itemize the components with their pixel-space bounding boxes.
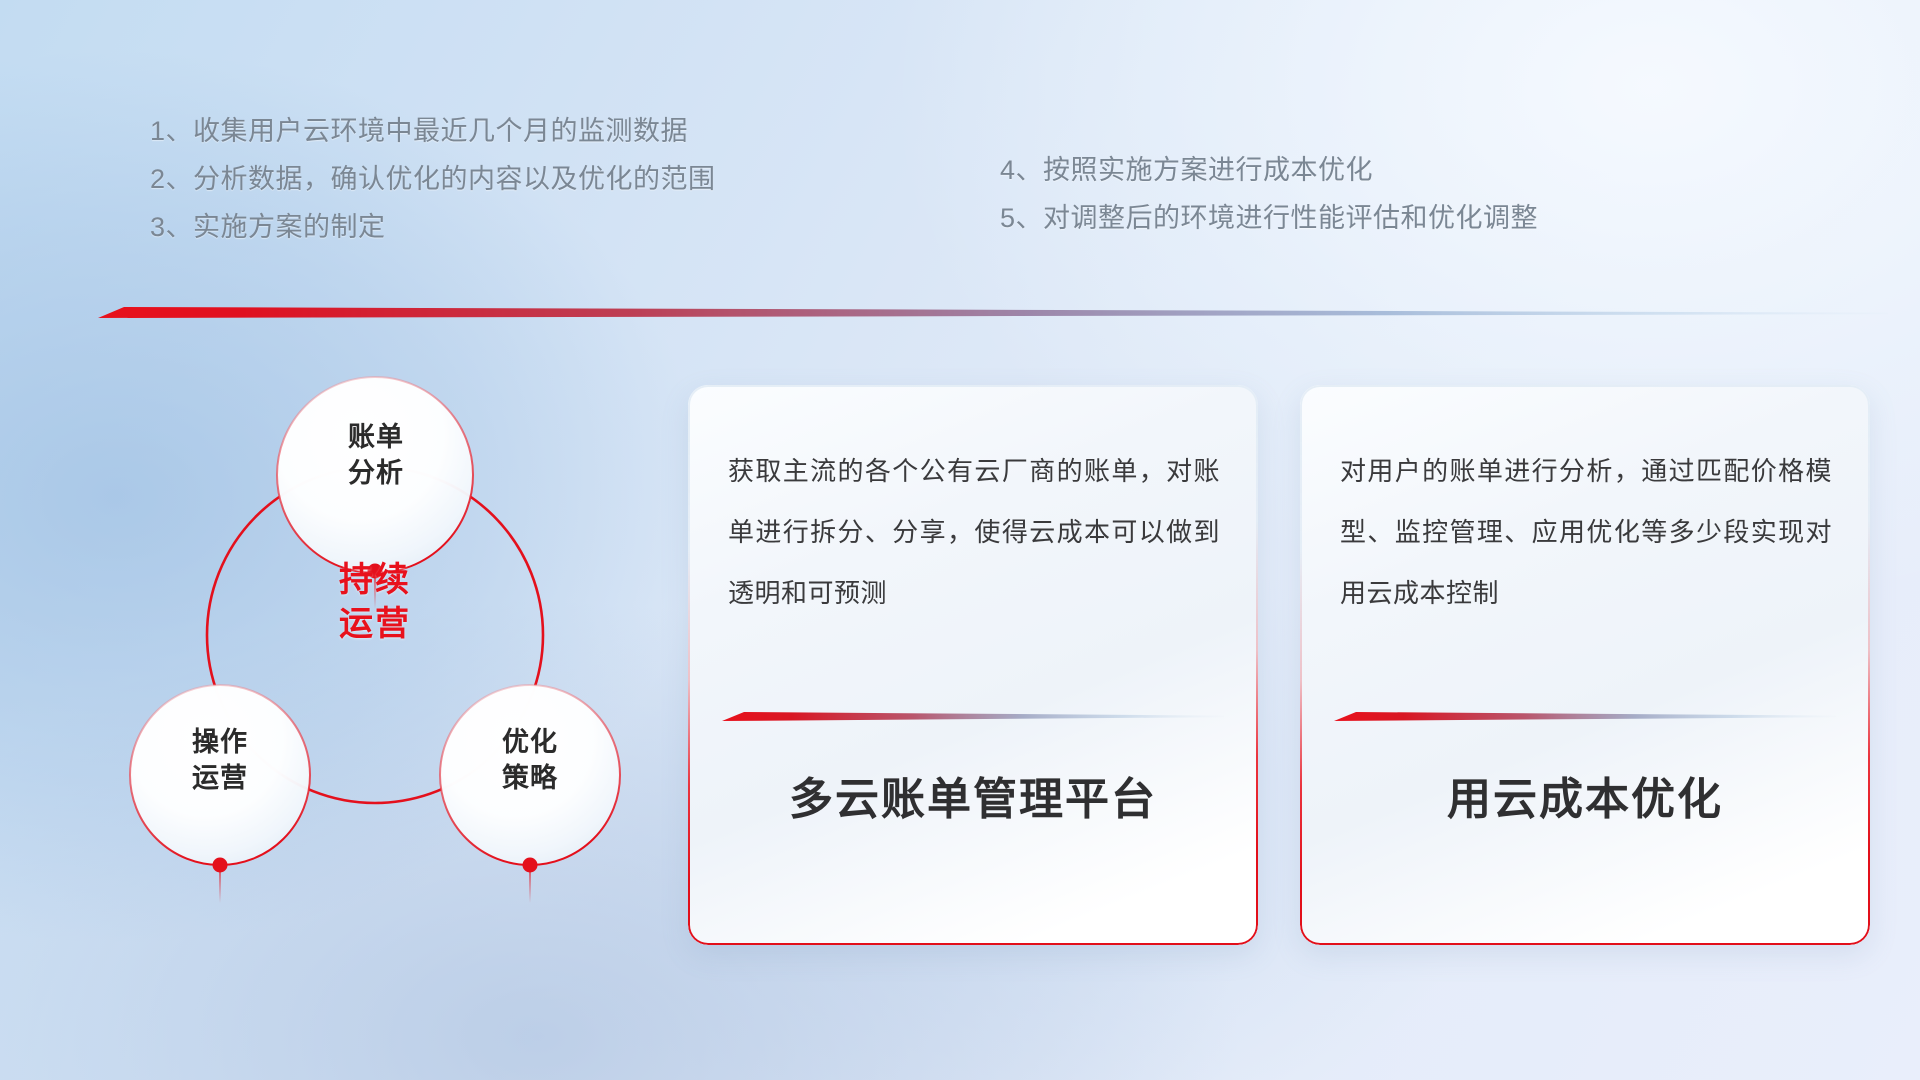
step-item-5: 5、对调整后的环境进行性能评估和优化调整 bbox=[1000, 205, 1538, 232]
diagram-node-label-bill-analysis: 账单 分析 bbox=[286, 420, 466, 491]
card-body-text: 获取主流的各个公有云厂商的账单，对账单进行拆分、分享，使得云成本可以做到透明和可… bbox=[728, 441, 1220, 624]
node-label-line-2: 策略 bbox=[440, 761, 620, 797]
feature-card-cloud-cost-optimization[interactable]: 对用户的账单进行分析，通过匹配价格模型、监控管理、应用优化等多少段实现对用云成本… bbox=[1300, 385, 1870, 945]
step-item-2: 2、分析数据，确认优化的内容以及优化的范围 bbox=[150, 166, 716, 193]
step-item-4: 4、按照实施方案进行成本优化 bbox=[1000, 157, 1538, 184]
card-title: 用云成本优化 bbox=[1300, 763, 1870, 827]
feature-card-multi-cloud-billing-platform[interactable]: 获取主流的各个公有云厂商的账单，对账单进行拆分、分享，使得云成本可以做到透明和可… bbox=[688, 385, 1258, 945]
continuous-operation-diagram: 账单 分析 操作 运营 优化 策略 持续 运营 bbox=[80, 345, 680, 965]
node-dot-strategy bbox=[523, 858, 538, 873]
steps-left-column: 1、收集用户云环境中最近几个月的监测数据 2、分析数据，确认优化的内容以及优化的… bbox=[150, 118, 716, 262]
center-label-line-1: 持续 bbox=[270, 558, 480, 602]
node-label-line-2: 分析 bbox=[286, 456, 466, 492]
steps-section: 1、收集用户云环境中最近几个月的监测数据 2、分析数据，确认优化的内容以及优化的… bbox=[0, 0, 1920, 300]
center-label-line-2: 运营 bbox=[270, 602, 480, 646]
card-divider bbox=[1334, 707, 1836, 723]
node-label-line-1: 优化 bbox=[440, 725, 620, 761]
node-label-line-2: 运营 bbox=[130, 761, 310, 797]
slide-canvas: 1、收集用户云环境中最近几个月的监测数据 2、分析数据，确认优化的内容以及优化的… bbox=[0, 0, 1920, 1080]
step-item-1: 1、收集用户云环境中最近几个月的监测数据 bbox=[150, 118, 716, 145]
step-item-3: 3、实施方案的制定 bbox=[150, 214, 716, 241]
diagram-node-label-ops-operation: 操作 运营 bbox=[130, 725, 310, 796]
node-dot-ops bbox=[213, 858, 228, 873]
card-body-text: 对用户的账单进行分析，通过匹配价格模型、监控管理、应用优化等多少段实现对用云成本… bbox=[1340, 441, 1832, 624]
card-title: 多云账单管理平台 bbox=[688, 763, 1258, 827]
node-label-line-1: 操作 bbox=[130, 725, 310, 761]
diagram-node-label-optimization-strategy: 优化 策略 bbox=[440, 725, 620, 796]
section-divider bbox=[98, 300, 1888, 320]
card-divider bbox=[722, 707, 1224, 723]
node-label-line-1: 账单 bbox=[286, 420, 466, 456]
diagram-center-label: 持续 运营 bbox=[270, 558, 480, 646]
steps-right-column: 4、按照实施方案进行成本优化 5、对调整后的环境进行性能评估和优化调整 bbox=[1000, 157, 1538, 253]
